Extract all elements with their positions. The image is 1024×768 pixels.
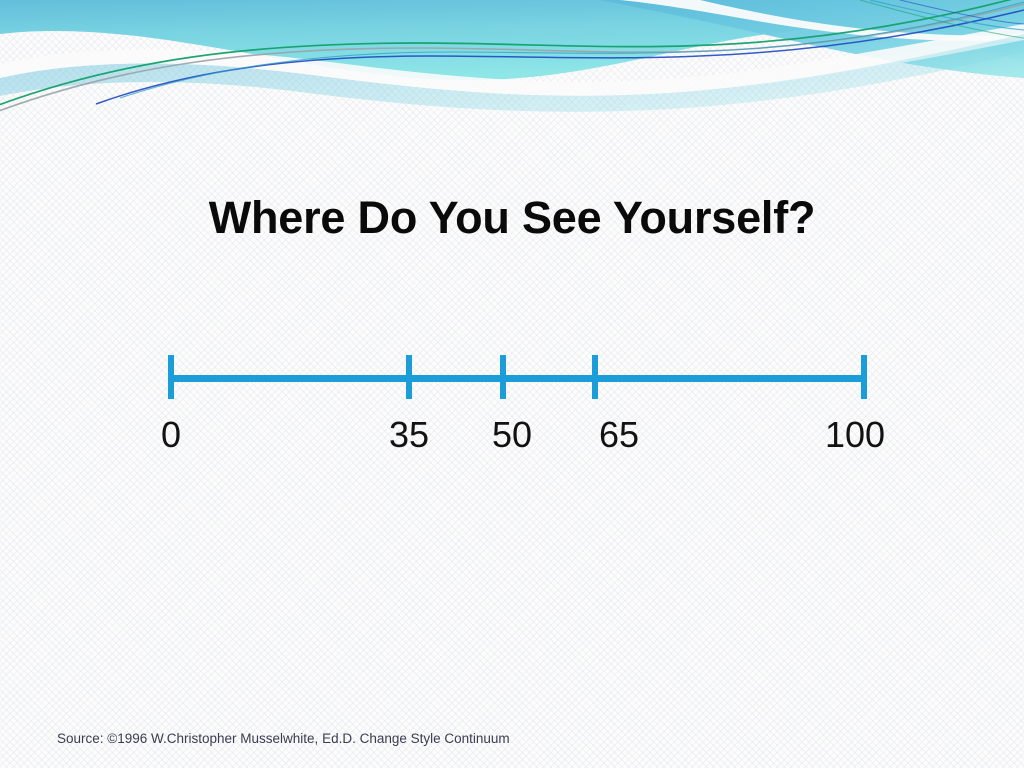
continuum-label-100: 100 xyxy=(795,417,915,453)
continuum-tick-35 xyxy=(406,355,412,399)
page-title: Where Do You See Yourself? xyxy=(0,193,1024,243)
continuum-axis-line xyxy=(171,375,865,382)
continuum-tick-0 xyxy=(168,355,174,399)
continuum-tick-50 xyxy=(500,355,506,399)
continuum-label-35: 35 xyxy=(349,417,469,453)
change-style-continuum: 0 35 50 65 100 xyxy=(0,0,1024,768)
wave-graphic xyxy=(0,0,1024,115)
slide: Where Do You See Yourself? 0 35 50 65 10… xyxy=(0,0,1024,768)
slide-background-texture xyxy=(0,0,1024,768)
continuum-label-50: 50 xyxy=(452,417,572,453)
continuum-tick-65 xyxy=(592,355,598,399)
continuum-label-0: 0 xyxy=(111,417,231,453)
decorative-wave-banner xyxy=(0,0,1024,115)
source-attribution: Source: ©1996 W.Christopher Musselwhite,… xyxy=(57,731,510,746)
continuum-label-65: 65 xyxy=(559,417,679,453)
continuum-tick-100 xyxy=(861,355,867,399)
